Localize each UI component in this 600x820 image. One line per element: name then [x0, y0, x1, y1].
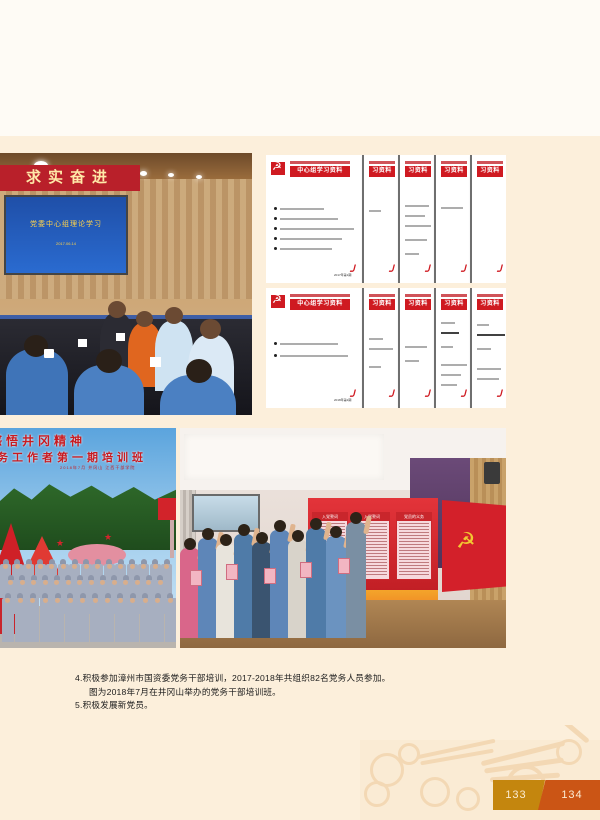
document-subtitle-bar	[441, 294, 467, 297]
document-footer-logo: 2017年第1期 ╯	[334, 268, 356, 278]
document-title-short: 习资料	[441, 166, 467, 177]
document-page: 习资料 ╯	[362, 288, 398, 408]
bullet-dot	[274, 217, 277, 220]
page-number-left: 133	[493, 780, 545, 810]
board-card-body	[399, 523, 429, 577]
person-head	[165, 307, 183, 324]
person-head	[200, 319, 221, 339]
attendee	[180, 548, 200, 638]
document-subtitle-bar	[405, 161, 431, 164]
tea-cup	[150, 357, 161, 367]
document-subtitle-bar	[477, 294, 503, 297]
party-flag: ☭	[442, 500, 506, 592]
document-footer-logo: ╯	[481, 268, 503, 278]
tea-cup	[44, 349, 54, 358]
attendee-crowd	[180, 514, 370, 638]
ceiling-light-icon	[140, 171, 147, 176]
document-title-bar: 习资料	[441, 299, 467, 310]
document-title-bar: 习资料	[477, 166, 503, 177]
person-head	[96, 349, 122, 373]
bullet-dot	[274, 227, 277, 230]
jinggangshan-banner: 感悟井冈精神 党务工作者第一期培训班 2018年7月 井冈山 江西干部学院	[0, 432, 176, 471]
caption-line-2: 图为2018年7月在井冈山举办的党务干部培训班。	[75, 686, 505, 700]
hammer-sickle-icon: ☭	[456, 528, 476, 554]
document-footer-logo: ╯	[445, 393, 467, 403]
meeting-room-photo: 求实奋进 党委中心组理论学习 2017.06.14	[0, 153, 252, 415]
document-text-line	[477, 324, 489, 326]
document-subtitle-bar	[477, 161, 503, 164]
bullet-dot	[274, 247, 277, 250]
document-page: 习资料 ╯	[470, 288, 506, 408]
document-footer-logo: ╯	[409, 268, 431, 278]
screen-subtitle: 2017.06.14	[6, 241, 126, 246]
document-text-line	[280, 343, 338, 345]
document-text-line	[405, 225, 431, 227]
page-number-badges: 133 134	[493, 780, 600, 810]
bullet-dot	[274, 342, 277, 345]
document-footer-logo: ╯	[481, 393, 503, 403]
document-title-short: 习资料	[369, 299, 395, 310]
person-back	[6, 349, 68, 415]
uniformed-person	[140, 598, 152, 642]
document-subtitle-bar	[290, 294, 350, 297]
document-subtitle-bar	[369, 161, 395, 164]
person-head	[186, 359, 212, 383]
attendee	[252, 542, 272, 638]
document-text-line	[280, 248, 332, 250]
document-title: 中心组学习资料	[290, 166, 350, 177]
ceiling-light-icon	[168, 173, 174, 177]
attendee	[198, 538, 218, 638]
document-text-line	[369, 338, 383, 340]
caption-line-3: 5.积极发展新党员。	[75, 699, 505, 713]
party-emblem-icon	[271, 295, 285, 308]
star-icon: ★	[104, 532, 112, 543]
document-text-line	[405, 239, 427, 241]
document-footer-logo: ╯	[409, 393, 431, 403]
jinggangshan-training-group-photo: 感悟井冈精神 党务工作者第一期培训班 2018年7月 井冈山 江西干部学院 ★ …	[0, 428, 176, 648]
document-title-bar: 习资料	[441, 166, 467, 177]
document-text-line	[441, 346, 453, 348]
oath-card	[190, 570, 202, 586]
document-footer-logo: ╯	[445, 268, 467, 278]
ceiling-light-icon	[196, 175, 202, 179]
oath-card	[226, 564, 238, 580]
document-text-line	[280, 355, 348, 357]
red-flourish-icon: ╯	[424, 390, 431, 403]
banner-line-1: 感悟井冈精神	[0, 432, 176, 449]
party-oath-ceremony-photo: 入党誓词 入党誓词 党员的义务 ☭	[180, 428, 506, 648]
document-title-bar: 习资料	[369, 299, 395, 310]
cloud-swirl-icon	[364, 781, 390, 807]
document-footer-logo: ╯	[373, 393, 395, 403]
document-text-line	[477, 378, 499, 380]
document-footer-logo: ╯	[373, 268, 395, 278]
page-number-right: 134	[538, 780, 600, 810]
board-card-title: 党员的义务	[397, 513, 431, 521]
document-title-short: 习资料	[405, 299, 431, 310]
attendee	[234, 534, 254, 638]
study-material-documents-row-2: 中心组学习资料 2018年第2期 ╯ 习资料	[266, 288, 506, 408]
document-text-line	[441, 384, 457, 386]
page-top-white-band	[0, 0, 600, 136]
document-title-short: 习资料	[405, 166, 431, 177]
document-strip: 中心组学习资料 2017年第1期 ╯ 习	[266, 155, 506, 283]
uniformed-person	[152, 598, 164, 642]
screen-title: 党委中心组理论学习	[6, 219, 126, 229]
uniformed-person	[77, 598, 89, 642]
document-text-line	[405, 360, 419, 362]
document-cover-page: 中心组学习资料 2017年第1期 ╯	[266, 155, 362, 283]
red-flourish-icon: ╯	[388, 265, 395, 278]
oath-card	[264, 568, 276, 584]
person-head	[108, 301, 126, 318]
speaker-icon	[484, 462, 500, 484]
soldier-row-front	[2, 598, 176, 642]
document-subtitle-bar	[405, 294, 431, 297]
document-title-bar: 习资料	[477, 299, 503, 310]
document-subtitle-bar	[369, 294, 395, 297]
uniformed-person	[15, 598, 27, 642]
tea-cup	[78, 339, 87, 347]
uniformed-person	[52, 598, 64, 642]
document-text-line	[280, 228, 354, 230]
document-title-short: 习资料	[369, 166, 395, 177]
album-page: 求实奋进 党委中心组理论学习 2017.06.14	[0, 0, 600, 820]
document-text-line	[369, 348, 393, 350]
meeting-banner-text: 求实奋进	[0, 165, 140, 191]
uniformed-person	[2, 598, 14, 642]
document-text-line	[441, 207, 463, 209]
red-flourish-icon: ╯	[424, 265, 431, 278]
caption-line-1: 4.积极参加漳州市国资委党务干部培训，2017-2018年共组织82名党务人员参…	[75, 672, 505, 686]
uniformed-person	[90, 598, 102, 642]
document-page: 习资料 ╯	[434, 155, 470, 283]
party-emblem-icon	[271, 162, 285, 175]
attendee	[346, 522, 366, 638]
red-flourish-icon: ╯	[388, 390, 395, 403]
attendee	[270, 530, 290, 638]
red-flourish-icon: ╯	[496, 390, 503, 403]
red-flourish-icon: ╯	[349, 390, 356, 403]
person-head	[136, 311, 153, 327]
document-subtitle-bar	[290, 161, 350, 164]
document-title-short: 习资料	[477, 166, 503, 177]
board-card: 党员的义务	[396, 512, 432, 580]
attendee	[288, 540, 308, 638]
ceiling-light-panel	[184, 434, 384, 480]
document-title-bar: 中心组学习资料	[290, 299, 350, 310]
document-text-line	[280, 238, 342, 240]
red-flourish-icon: ╯	[460, 390, 467, 403]
document-text-line	[280, 218, 338, 220]
document-title: 中心组学习资料	[290, 299, 350, 310]
document-page: 习资料 ╯	[398, 155, 434, 283]
document-title-short: 习资料	[441, 299, 467, 310]
meeting-banner: 求实奋进	[0, 165, 140, 191]
banner-line-2: 党务工作者第一期培训班	[0, 449, 176, 465]
document-text-line	[405, 205, 429, 207]
document-text-line	[405, 346, 427, 348]
document-text-line	[405, 215, 425, 217]
document-text-line	[441, 364, 467, 366]
document-strip: 中心组学习资料 2018年第2期 ╯ 习资料	[266, 288, 506, 408]
document-text-line	[280, 208, 324, 210]
oath-card	[338, 558, 350, 574]
cloud-swirl-icon	[456, 787, 480, 811]
uniformed-person	[27, 598, 39, 642]
bullet-dot	[274, 354, 277, 357]
document-page: 习资料 ╯	[434, 288, 470, 408]
uniformed-person	[65, 598, 77, 642]
uniformed-person	[115, 598, 127, 642]
document-text-line	[441, 322, 455, 324]
attendee	[216, 544, 236, 638]
uniformed-person	[102, 598, 114, 642]
document-title-bar: 习资料	[369, 166, 395, 177]
study-material-documents-row-1: 中心组学习资料 2017年第1期 ╯ 习	[266, 155, 506, 283]
cloud-swirl-icon	[420, 777, 450, 807]
document-page: 习资料 ╯	[470, 155, 506, 283]
projection-screen: 党委中心组理论学习 2017.06.14	[4, 195, 128, 275]
attendee	[326, 536, 346, 638]
document-cover-page: 中心组学习资料 2018年第2期 ╯	[266, 288, 362, 408]
red-flourish-icon: ╯	[496, 265, 503, 278]
document-text-line	[441, 332, 459, 334]
oath-card	[300, 562, 312, 578]
attendee	[306, 528, 326, 638]
document-page: 习资料 ╯	[398, 288, 434, 408]
document-text-line	[369, 210, 381, 212]
document-title-short: 习资料	[477, 299, 503, 310]
uniformed-person	[165, 598, 177, 642]
red-flourish-icon: ╯	[460, 265, 467, 278]
cloud-swirl-icon	[398, 743, 420, 765]
uniformed-person	[40, 598, 52, 642]
document-title-bar: 习资料	[405, 166, 431, 177]
document-text-line	[477, 368, 501, 370]
tea-cup	[116, 333, 125, 341]
document-text-line	[477, 348, 491, 350]
document-text-line	[441, 374, 461, 376]
caption-block: 4.积极参加漳州市国资委党务干部培训，2017-2018年共组织82名党务人员参…	[75, 672, 505, 713]
document-footer-logo: 2018年第2期 ╯	[334, 393, 356, 403]
document-title-bar: 习资料	[405, 299, 431, 310]
document-title-bar: 中心组学习资料	[290, 166, 350, 177]
bullet-dot	[274, 207, 277, 210]
document-text-line	[405, 253, 419, 255]
document-text-line	[477, 334, 505, 336]
bullet-dot	[274, 237, 277, 240]
banner-line-3: 2018年7月 井冈山 江西干部学院	[60, 465, 176, 471]
document-text-line	[369, 366, 381, 368]
red-flourish-icon: ╯	[349, 265, 356, 278]
uniformed-person	[127, 598, 139, 642]
document-page: 习资料 ╯	[362, 155, 398, 283]
star-icon: ★	[56, 538, 64, 549]
red-flag	[158, 498, 176, 520]
document-subtitle-bar	[441, 161, 467, 164]
